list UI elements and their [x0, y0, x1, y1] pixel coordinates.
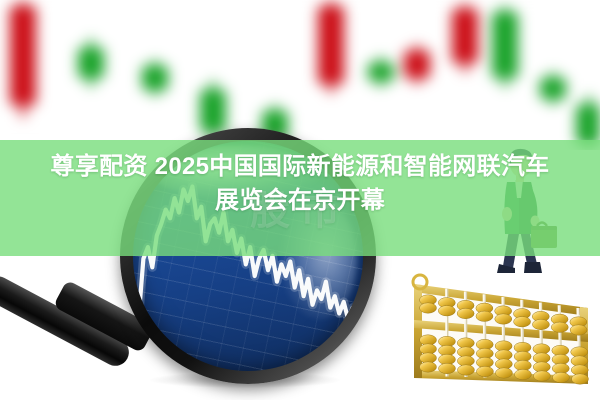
- poster-canvas: 股市 尊享配资 2025中国国际新能源和智能网联汽车 展览会在京开幕: [0, 0, 600, 400]
- page-title-line2: 展览会在京开幕: [12, 184, 588, 218]
- page-title: 尊享配资 2025中国国际新能源和智能网联汽车 展览会在京开幕: [0, 150, 600, 218]
- abacus-svg: [404, 272, 600, 400]
- page-title-line1: 尊享配资 2025中国国际新能源和智能网联汽车: [12, 150, 588, 184]
- abacus-graphic: [404, 272, 600, 400]
